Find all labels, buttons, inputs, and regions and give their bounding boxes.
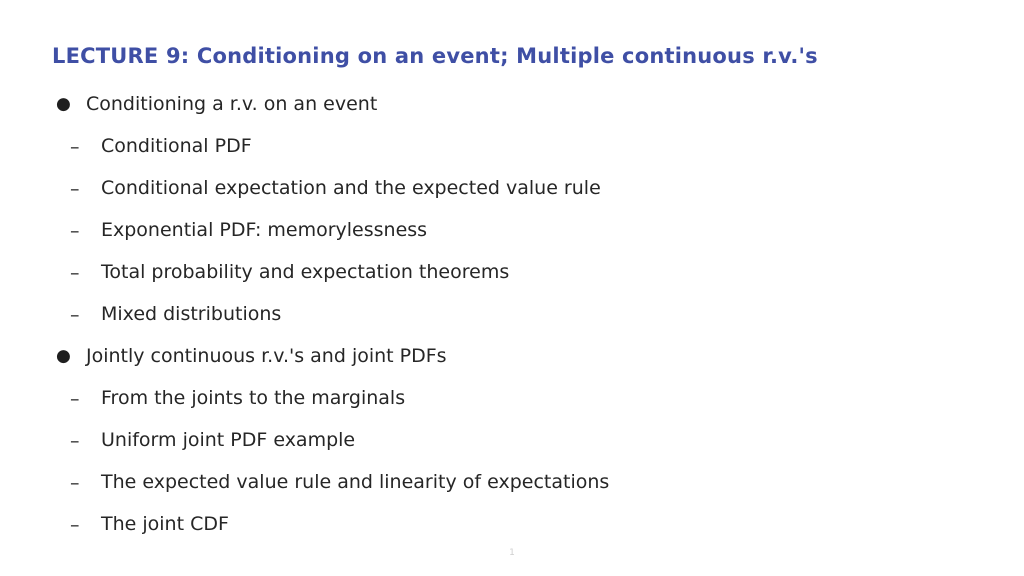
outline-sub-item: –Conditional PDF: [0, 126, 1024, 168]
bullet-dash-icon: –: [70, 222, 101, 241]
outline-item-label: Mixed distributions: [101, 303, 281, 327]
lecture-slide: LECTURE 9: Conditioning on an event; Mul…: [0, 0, 1024, 576]
outline-item-label: Jointly continuous r.v.'s and joint PDFs: [86, 345, 447, 369]
bullet-dash-icon: –: [70, 474, 101, 493]
bullet-dash-icon: –: [70, 306, 101, 325]
outline-bullet-item: ●Conditioning a r.v. on an event: [0, 84, 1024, 126]
slide-title: LECTURE 9: Conditioning on an event; Mul…: [52, 44, 818, 69]
outline-sub-item: –Conditional expectation and the expecte…: [0, 168, 1024, 210]
outline-item-label: Total probability and expectation theore…: [101, 261, 509, 285]
bullet-dash-icon: –: [70, 138, 101, 157]
bullet-dash-icon: –: [70, 432, 101, 451]
outline-item-label: Conditioning a r.v. on an event: [86, 93, 377, 117]
outline-list: ●Conditioning a r.v. on an event–Conditi…: [0, 84, 1024, 546]
bullet-dash-icon: –: [70, 180, 101, 199]
outline-sub-item: –Mixed distributions: [0, 294, 1024, 336]
bullet-dash-icon: –: [70, 390, 101, 409]
outline-item-label: Conditional expectation and the expected…: [101, 177, 601, 201]
outline-item-label: The expected value rule and linearity of…: [101, 471, 609, 495]
outline-item-label: Uniform joint PDF example: [101, 429, 355, 453]
outline-sub-item: –Uniform joint PDF example: [0, 420, 1024, 462]
outline-sub-item: –The joint CDF: [0, 504, 1024, 546]
bullet-dash-icon: –: [70, 516, 101, 535]
page-number: 1: [0, 548, 1024, 558]
outline-bullet-item: ●Jointly continuous r.v.'s and joint PDF…: [0, 336, 1024, 378]
outline-sub-item: –Total probability and expectation theor…: [0, 252, 1024, 294]
outline-item-label: Exponential PDF: memorylessness: [101, 219, 427, 243]
outline-sub-item: –From the joints to the marginals: [0, 378, 1024, 420]
bullet-dot-icon: ●: [56, 348, 86, 365]
outline-item-label: The joint CDF: [101, 513, 229, 537]
outline-item-label: Conditional PDF: [101, 135, 252, 159]
outline-sub-item: –The expected value rule and linearity o…: [0, 462, 1024, 504]
outline-sub-item: –Exponential PDF: memorylessness: [0, 210, 1024, 252]
bullet-dot-icon: ●: [56, 96, 86, 113]
outline-item-label: From the joints to the marginals: [101, 387, 405, 411]
bullet-dash-icon: –: [70, 264, 101, 283]
